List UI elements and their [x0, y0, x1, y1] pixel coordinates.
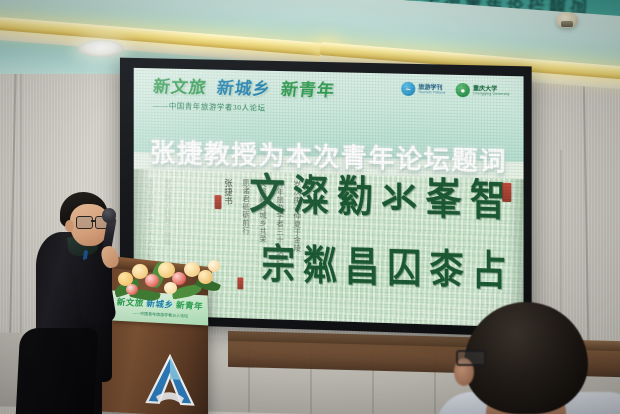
red-seal-stamp-icon — [238, 277, 244, 289]
seal-character: 占 — [472, 253, 506, 291]
seal-character: 澯 — [294, 177, 330, 217]
flower-arrangement — [112, 256, 222, 304]
seal-character: 智 — [470, 182, 506, 222]
leaf-icon: ● — [456, 83, 470, 97]
flower — [164, 282, 177, 294]
seal-character: 文 — [250, 176, 286, 216]
smoke-detector-icon — [556, 12, 578, 28]
sponsor-name-en: Chongqing University — [473, 92, 510, 96]
sponsor-logos: ~ 旅游学刊 Tourism Tribune ● 重庆大学 Chongqing … — [401, 82, 509, 99]
scroll-faint-columns: 岁次庚子仲夏于金陵 青年旅游学者三十人论坛 — [145, 178, 171, 261]
logo-word-1: 新文旅 — [151, 77, 207, 97]
seal-character: 桼 — [430, 252, 464, 290]
seal-character: 峯 — [426, 181, 462, 221]
podium-logo — [144, 352, 196, 409]
red-seal-stamp-icon — [503, 183, 512, 202]
wall-panel-seam — [20, 40, 22, 350]
sponsor-logo-chongqing-university: ● 重庆大学 Chongqing University — [456, 83, 510, 98]
scroll-inscription-column: 岁次庚子仲夏于金陵 — [162, 179, 171, 261]
speaker-ear — [65, 220, 74, 232]
audience-glasses-icon — [456, 350, 486, 366]
flower — [208, 260, 220, 272]
seal-character: 宗 — [262, 247, 296, 285]
scroll-inscription-column: 青年旅游学者三十人论坛 — [145, 178, 154, 260]
audience-member — [430, 294, 620, 414]
sponsor-name-en: Tourism Tribune — [418, 91, 445, 95]
downlight-icon — [78, 40, 124, 57]
event-logo: 新文旅 新城乡 新青年 ——中国青年旅游学者30人论坛 — [153, 72, 394, 96]
logo-word-3: 新青年 — [279, 80, 335, 100]
seal-character: 勬 — [337, 178, 373, 218]
flower — [145, 274, 159, 287]
event-logo-main: 新文旅 新城乡 新青年 — [151, 72, 395, 102]
sponsor-logo-tourism-tribune: ~ 旅游学刊 Tourism Tribune — [401, 82, 445, 97]
seal-character: 囚 — [388, 250, 422, 288]
scroll-signature: 张捷书 — [222, 179, 233, 267]
logo-word-2: 新城乡 — [215, 79, 271, 99]
event-subtitle: ——中国青年旅游学者30人论坛 — [153, 100, 394, 117]
flower — [198, 270, 213, 284]
wave-icon: ~ — [401, 82, 415, 96]
seal-character: 昌 — [345, 249, 379, 287]
red-seal-stamp-icon — [214, 195, 221, 209]
seal-character: 氺 — [382, 179, 418, 219]
foreground-shadow — [16, 328, 99, 414]
conference-photo-scene: 张捷教授为本次青年论坛题词 ——中国青年旅游学者30人论坛 新文旅 新城乡 新青… — [0, 0, 620, 414]
seal-script-line-1: 智 峯 氺 勬 澯 文 — [249, 178, 508, 220]
seal-character: 粼 — [303, 248, 337, 286]
